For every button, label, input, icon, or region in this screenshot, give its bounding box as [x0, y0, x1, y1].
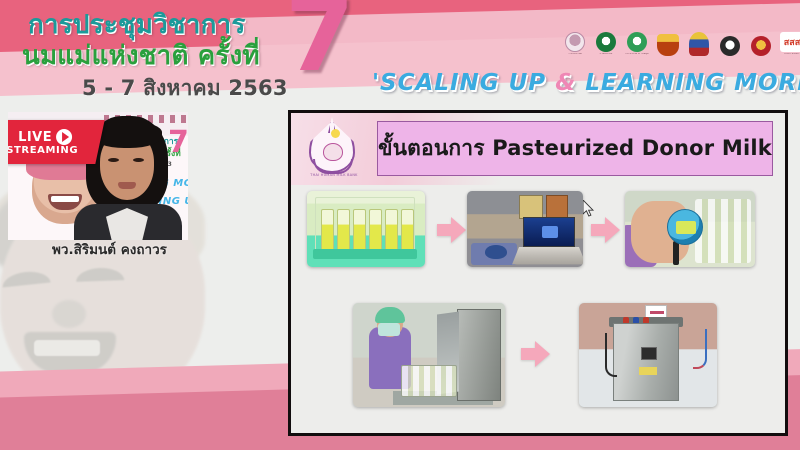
black-seal-icon	[720, 36, 740, 56]
slide-title-banner: ขั้นตอนการ Pasteurized Donor Milk	[377, 121, 773, 176]
milk-bottle	[321, 209, 334, 251]
milk-bottle	[337, 209, 350, 251]
red-crest-logo	[748, 26, 774, 56]
arrow-head	[451, 217, 466, 243]
royal-crest-logo	[655, 26, 681, 56]
logo-caption: กรมอนามัย	[593, 53, 619, 56]
laptop-keyboard	[512, 247, 583, 264]
milk-bottle	[401, 209, 414, 251]
pasteurizer-machine-image	[579, 303, 717, 407]
logo-caption: ราชวิทยาลัย	[562, 53, 588, 56]
speaker-eye-right	[133, 158, 144, 162]
arrow-head	[535, 341, 550, 367]
black-seal-logo	[717, 26, 743, 56]
royal-crest-icon	[657, 34, 679, 56]
speaker-name-label: พว.สิริมนต์ คงถาวร	[52, 238, 167, 260]
public-health-green-logo: กระทรวงสาธารณสุข	[624, 26, 650, 56]
img3-probe	[673, 241, 679, 265]
img5-black-hose	[605, 333, 617, 377]
thai-human-milk-bank-logo: THAI HUMAN MILK BANK	[301, 119, 367, 185]
milk-bottle-racks-image	[307, 191, 425, 267]
streaming-label: STREAMING	[8, 145, 78, 156]
royal-patronage-logo: ราชวิทยาลัย	[562, 26, 588, 56]
public-health-icon	[627, 32, 647, 52]
img5-machine-body	[613, 323, 679, 401]
royal-patronage-icon	[565, 32, 585, 52]
nurse-loading-pasteurizer-image	[353, 303, 505, 407]
thaihealth-icon	[780, 32, 800, 52]
milk-drop-highlight	[331, 129, 340, 138]
ministry-health-green-logo: กรมอนามัย	[593, 26, 619, 56]
flow-arrow-3	[521, 341, 551, 367]
laptop-screen	[523, 217, 575, 247]
speaker-mouth	[118, 182, 136, 189]
flow-arrow-1	[437, 217, 467, 243]
img5-label-sticker	[639, 367, 657, 375]
arrow-head	[605, 217, 620, 243]
img3-bottle-rack	[695, 199, 751, 263]
bottle-tray	[401, 365, 457, 397]
thai-emblem-logo	[686, 26, 712, 56]
logo-caption: THAI HEALTH	[779, 53, 800, 56]
tagline-ampersand: &	[555, 70, 576, 96]
temperature-logger-image	[625, 191, 755, 267]
tagline-prefix: 'SCALING UP	[372, 70, 555, 96]
watermark-nose	[52, 300, 86, 328]
img2-wall-picture-2	[546, 195, 568, 219]
conference-date: 5 - 7 สิงหาคม 2563	[82, 72, 288, 105]
live-streaming-badge: LIVE STREAMING	[8, 120, 105, 164]
conference-tagline: 'SCALING UP & LEARNING MORE'	[372, 70, 800, 96]
presentation-slide-panel: THAI HUMAN MILK BANK ขั้นตอนการ Pasteuri…	[288, 110, 788, 436]
sponsor-logo-strip: ราชวิทยาลัย กรมอนามัย กระทรวงสาธารณสุข T…	[562, 26, 800, 56]
thaihealth-sss-logo: THAI HEALTH	[779, 26, 800, 56]
milk-bottle	[385, 209, 398, 251]
milk-bottle	[369, 209, 382, 251]
play-icon	[56, 129, 72, 145]
red-crest-icon	[751, 36, 771, 56]
img2-wall-picture-1	[519, 195, 543, 219]
thai-emblem-icon	[689, 32, 709, 56]
logo-ring-caption: THAI HUMAN MILK BANK	[301, 173, 367, 177]
nurse-face-mask	[378, 323, 400, 336]
img5-control-panel	[641, 347, 657, 360]
edition-number: 7	[285, 0, 355, 86]
speaker-eye-left	[108, 158, 119, 162]
cradling-hands-icon	[313, 159, 353, 174]
temperature-logger-device	[667, 209, 703, 245]
flow-arrow-2	[591, 217, 621, 243]
conference-title-line2: นมแม่แห่งชาติ ครั้งที่	[22, 35, 260, 76]
live-label: LIVE	[18, 129, 52, 144]
logo-caption: กระทรวงสาธารณสุข	[624, 53, 650, 56]
nurse-surgical-cap	[375, 307, 405, 323]
watermark-teeth	[34, 340, 100, 356]
img1-rack-base	[313, 249, 417, 259]
computer-monitoring-image	[467, 191, 583, 267]
computer-mouse	[485, 245, 507, 259]
img4-pasteurizer-body	[457, 309, 501, 401]
tagline-suffix: LEARNING MORE'	[576, 70, 800, 96]
ministry-health-icon	[596, 32, 616, 52]
mouse-cursor	[583, 200, 595, 218]
live-badge-row: LIVE	[18, 129, 72, 145]
speaker-video-overlay[interactable]: การประชุมวิชาการ นมแม่แห่งชาติ ครั้งที่ …	[8, 112, 188, 240]
slide-screenshot: การประชุมวิชาการ นมแม่แห่งชาติ ครั้งที่ …	[0, 0, 800, 450]
milk-bottle	[353, 209, 366, 251]
img5-colored-hoses	[693, 329, 707, 369]
slide-title: ขั้นตอนการ Pasteurized Donor Milk	[378, 132, 772, 165]
